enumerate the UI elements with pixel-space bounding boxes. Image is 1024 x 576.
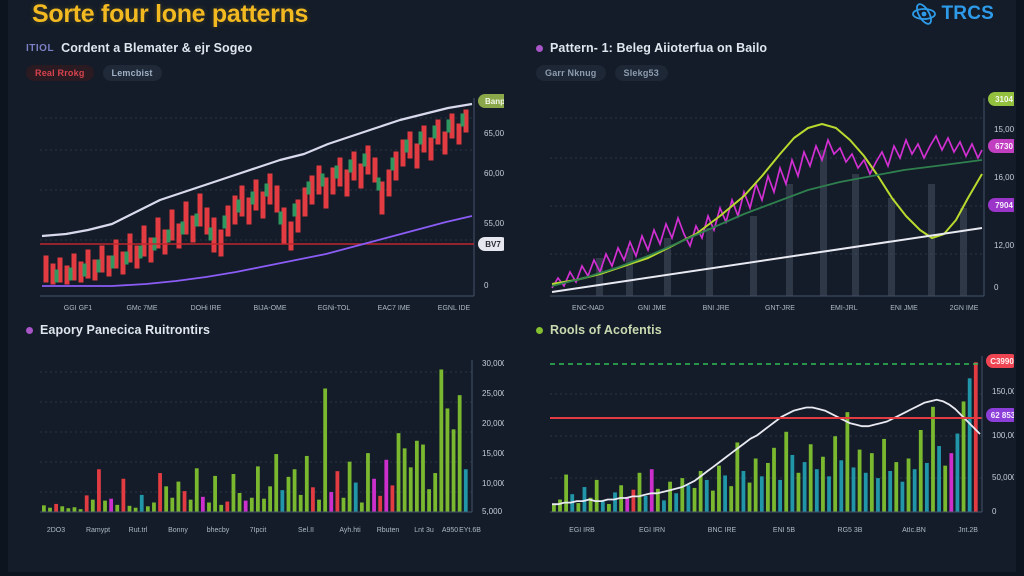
bar <box>452 429 456 512</box>
bar <box>274 454 278 512</box>
y-tick-1-3: 0 <box>484 281 489 290</box>
y-tick-2-0: 15,000 <box>994 125 1014 134</box>
bar <box>772 448 776 512</box>
brand-name: TRCS <box>941 3 994 25</box>
bar <box>882 439 886 512</box>
x-tick-labels-3: 2DO3 Ramypt Rut.trl Bonny bhecby 7Ipcit … <box>47 527 481 534</box>
bar <box>73 507 77 512</box>
x-tick-3-11: EYt.6B <box>459 527 481 534</box>
bar <box>189 500 193 512</box>
y-tick-4-2: 50,000 <box>992 473 1014 482</box>
bar <box>901 482 905 512</box>
x-tick-3-4: bhecby <box>207 527 230 534</box>
bar <box>366 453 370 512</box>
x-tick-1-1: GMc 7ME <box>126 305 157 310</box>
bar <box>201 497 205 512</box>
bar <box>170 498 174 512</box>
bar <box>797 473 801 512</box>
bar <box>311 487 315 512</box>
bar <box>974 362 978 512</box>
bar <box>293 469 297 512</box>
x-tick-1-3: BIJA-OME <box>253 305 286 310</box>
bar <box>595 480 599 512</box>
bar <box>729 486 733 512</box>
bar <box>558 500 562 512</box>
bar <box>607 504 611 512</box>
badge-2-0-label: 3104 <box>995 95 1013 104</box>
bar <box>219 505 223 512</box>
panel-3-title: Eapory Panecica Ruitrontirs <box>40 323 210 337</box>
bar <box>134 508 138 512</box>
x-tick-3-9: Lnt 3u <box>414 527 434 534</box>
bar <box>919 430 923 512</box>
bar <box>858 450 862 512</box>
bar <box>244 501 248 512</box>
panel-2-header: Pattern- 1: Beleg Aiioterfua on Bailo <box>536 40 1014 56</box>
bar <box>66 508 70 512</box>
bar <box>845 412 849 512</box>
bar <box>742 471 746 512</box>
bar <box>360 503 364 513</box>
x-tick-3-0: 2DO3 <box>47 527 65 534</box>
bar <box>409 467 413 512</box>
panel-1-pills: Real Rrokg Lemcbist <box>26 65 504 81</box>
bar <box>552 505 556 512</box>
x-tick-3-3: Bonny <box>168 527 188 534</box>
panel-candlestick: ITIOL Cordent a Blemater & ejr Sogeo Rea… <box>26 40 504 310</box>
brand-logo: TRCS <box>911 2 994 26</box>
bar <box>97 469 101 512</box>
bar <box>109 499 113 512</box>
bullet-icon <box>26 327 33 334</box>
x-tick-3-1: Ramypt <box>86 527 110 534</box>
bar <box>378 496 382 512</box>
bar <box>48 508 52 512</box>
bar <box>784 432 788 512</box>
bar <box>42 505 46 512</box>
bar <box>323 389 327 513</box>
bar <box>250 498 254 512</box>
bar <box>372 479 376 512</box>
bar <box>680 478 684 512</box>
panel-2-plot[interactable]: 15,000 16,000 12,000 0 3104 6730 7904 <box>536 88 1014 310</box>
page-title: Sorte four lone patterns <box>32 0 308 29</box>
x-tick-3-7: Ayh.hti <box>339 527 361 534</box>
x-tick-4-2: BNC IRE <box>708 527 737 534</box>
x-tick-2-3: GNT-JRE <box>765 305 795 310</box>
bar <box>183 491 187 512</box>
x-tick-2-5: ENI JME <box>890 305 918 310</box>
bar <box>439 370 443 513</box>
bar <box>564 475 568 512</box>
bar <box>876 478 880 512</box>
bar <box>384 460 388 512</box>
panel-4-plot[interactable]: 150,000 100,000 50,000 0 C3990 62 853 EG… <box>536 346 1014 560</box>
x-tick-4-5: AtIc.BN <box>902 527 926 534</box>
bar <box>85 495 89 512</box>
x-tick-labels-4: EGI IRB EGI IRN BNC IRE ENI 5B RG5 3B At… <box>569 527 978 534</box>
y-tick-3-1: 25,000 <box>482 389 504 398</box>
bar <box>864 473 868 512</box>
bar <box>668 482 672 512</box>
bar-series-3 <box>42 370 468 513</box>
bar <box>662 500 666 512</box>
bar <box>723 475 727 512</box>
x-tick-1-6: EGNL IDE <box>438 305 471 310</box>
bar <box>207 503 211 513</box>
bar <box>146 506 150 512</box>
panel-pattern: Pattern- 1: Beleg Aiioterfua on Bailo Ga… <box>536 40 1014 310</box>
bar <box>687 485 691 512</box>
bar <box>943 466 947 512</box>
bar <box>415 441 419 512</box>
x-tick-3-8: Rbuten <box>377 527 400 534</box>
x-tick-1-4: EGNi-TOL <box>318 305 351 310</box>
bar <box>348 462 352 512</box>
bar <box>803 462 807 512</box>
bar <box>631 490 635 512</box>
bar <box>907 459 911 512</box>
bar <box>711 491 715 512</box>
bar <box>256 466 260 512</box>
bar <box>760 476 764 512</box>
bar <box>931 407 935 512</box>
bar <box>329 492 333 512</box>
badge-4-0-label: C3990 <box>990 357 1014 366</box>
x-tick-1-2: DOHi IRE <box>191 305 222 310</box>
x-tick-2-2: BNI JRE <box>703 305 730 310</box>
x-tick-2-0: ENC-NAD <box>572 305 604 310</box>
bar <box>177 482 181 512</box>
bar <box>280 490 284 512</box>
bar <box>397 433 401 512</box>
y-tick-4-3: 0 <box>992 507 997 516</box>
panel-1-plot[interactable]: 65,000 60,000 55,000 0 Banp BV7 GGI GF1 … <box>26 88 504 310</box>
bar <box>152 503 156 513</box>
dashboard-root: Sorte four lone patterns TRCS ITIOL Cord… <box>0 0 1024 576</box>
panel-4-title: Rools of Acofentis <box>550 323 662 337</box>
panel-roots: Rools of Acofentis 150,000 100,000 50,0 <box>536 322 1014 560</box>
panel-3-plot[interactable]: 30,000 25,000 20,000 15,000 10,000 5,000… <box>26 346 504 560</box>
bar <box>717 466 721 512</box>
bar <box>335 471 339 512</box>
bullet-icon <box>536 327 543 334</box>
bar <box>103 501 107 512</box>
bar <box>839 460 843 512</box>
panel-2-pills: Garr Nknug Slekg53 <box>536 65 1014 81</box>
x-tick-4-1: EGI IRN <box>639 527 665 534</box>
badge-1-1-label: BV7 <box>485 240 501 249</box>
bar <box>317 500 321 512</box>
x-tick-labels-1: GGI GF1 GMc 7ME DOHi IRE BIJA-OME EGNi-T… <box>64 305 471 310</box>
badge-4-1: 62 853 <box>986 408 1014 422</box>
bar <box>54 504 58 512</box>
bar <box>925 463 929 512</box>
bar <box>576 503 580 512</box>
bar <box>158 473 162 512</box>
bullet-icon <box>536 45 543 52</box>
bar <box>140 495 144 512</box>
bar <box>164 486 168 512</box>
candle-series <box>44 110 468 284</box>
y-tick-3-0: 30,000 <box>482 359 504 368</box>
bar <box>815 469 819 512</box>
bar <box>913 469 917 512</box>
pill-real-rrokg[interactable]: Real Rrokg <box>26 65 94 81</box>
app-header: Sorte four lone patterns TRCS <box>8 0 1016 36</box>
bar <box>342 498 346 512</box>
bar <box>674 493 678 512</box>
bar <box>833 436 837 512</box>
badge-2-1-label: 6730 <box>995 142 1013 151</box>
badge-4-1-label: 62 853 <box>991 411 1014 420</box>
bar <box>446 408 450 512</box>
bar <box>888 471 892 512</box>
bar <box>625 497 629 512</box>
badge-1-0-label: Banp <box>485 97 504 106</box>
x-tick-3-2: Rut.trl <box>129 527 148 534</box>
badge-2-2: 7904 <box>988 198 1014 212</box>
bar <box>937 446 941 512</box>
x-tick-2-6: 2GN IME <box>950 305 979 310</box>
bar <box>693 488 697 512</box>
panel-1-prefix: ITIOL <box>26 43 54 54</box>
bar <box>464 469 468 512</box>
y-tick-labels-1: 65,000 60,000 55,000 0 <box>484 129 504 290</box>
upper-band-line <box>42 104 472 236</box>
badge-1-1: BV7 <box>478 237 504 251</box>
badge-4-0: C3990 <box>986 354 1014 368</box>
bar <box>956 434 960 512</box>
price-line-magenta <box>552 136 982 288</box>
bar <box>262 499 266 512</box>
bar <box>748 483 752 512</box>
x-tick-4-3: ENI 5B <box>773 527 796 534</box>
bar <box>195 468 199 512</box>
y-tick-1-1: 60,000 <box>484 169 504 178</box>
x-tick-4-4: RG5 3B <box>838 527 863 534</box>
bar <box>403 448 407 512</box>
bar <box>287 477 291 512</box>
bar <box>225 502 229 512</box>
pill-lemcbist[interactable]: Lemcbist <box>103 65 162 81</box>
badge-2-0: 3104 <box>988 92 1014 106</box>
x-tick-4-6: Jnt.2B <box>958 527 978 534</box>
bar <box>91 500 95 512</box>
bar <box>305 456 309 512</box>
bar <box>238 493 242 512</box>
bar <box>644 496 648 512</box>
x-tick-2-4: EMI-JRL <box>830 305 857 310</box>
y-tick-3-4: 10,000 <box>482 479 504 488</box>
bar <box>128 506 132 512</box>
bar <box>778 480 782 512</box>
bar <box>232 474 236 512</box>
bar <box>213 476 217 512</box>
bar <box>650 469 654 512</box>
gridlines-2 <box>550 118 984 254</box>
trend-line-white <box>552 228 982 292</box>
x-tick-2-1: GNI JME <box>638 305 667 310</box>
bar <box>809 444 813 512</box>
bar <box>268 486 272 512</box>
x-tick-3-6: Sel.II <box>298 527 314 534</box>
x-tick-1-5: EAC7 IME <box>378 305 411 310</box>
badge-2-1: 6730 <box>988 139 1014 153</box>
bar <box>391 485 395 512</box>
pill-slekg53[interactable]: Slekg53 <box>615 65 668 81</box>
x-tick-1-0: GGI GF1 <box>64 305 93 310</box>
bar <box>894 462 898 512</box>
panel-1-header: ITIOL Cordent a Blemater & ejr Sogeo <box>26 40 504 56</box>
y-tick-1-0: 65,000 <box>484 129 504 138</box>
atom-icon <box>911 2 937 26</box>
bar <box>638 473 642 512</box>
bar <box>821 457 825 512</box>
badge-1-0: Banp <box>478 94 504 108</box>
pill-garr-nknug[interactable]: Garr Nknug <box>536 65 606 81</box>
bar <box>852 467 856 512</box>
bar <box>458 395 462 512</box>
y-tick-3-5: 5,000 <box>482 507 503 516</box>
bar <box>121 479 125 512</box>
y-tick-2-3: 0 <box>994 283 999 292</box>
panel-4-header: Rools of Acofentis <box>536 322 1014 338</box>
panel-3-header: Eapory Panecica Ruitrontirs <box>26 322 504 338</box>
panel-2-title: Pattern- 1: Beleg Aiioterfua on Bailo <box>550 41 767 55</box>
bar <box>766 463 770 512</box>
bar <box>870 453 874 512</box>
bar <box>968 378 972 512</box>
bar-series-4 <box>552 362 978 512</box>
y-tick-3-3: 15,000 <box>482 449 504 458</box>
bar <box>354 483 358 512</box>
bar <box>115 505 119 512</box>
x-tick-labels-2: ENC-NAD GNI JME BNI JRE GNT-JRE EMI-JRL … <box>572 305 979 310</box>
y-tick-1-2: 55,000 <box>484 219 504 228</box>
bar <box>754 459 758 512</box>
bar <box>790 455 794 512</box>
bar <box>421 445 425 512</box>
panel-volume-bars: Eapory Panecica Ruitrontirs 30,000 25,00… <box>26 322 504 560</box>
y-tick-4-0: 150,000 <box>992 387 1014 396</box>
x-tick-3-10: A950 <box>442 527 458 534</box>
y-tick-4-1: 100,000 <box>992 431 1014 440</box>
panel-1-title: Cordent a Blemater & ejr Sogeo <box>61 41 252 55</box>
bar <box>601 501 605 512</box>
bar <box>949 453 953 512</box>
bar <box>427 489 431 512</box>
bar <box>60 506 64 512</box>
bar <box>827 476 831 512</box>
x-tick-4-0: EGI IRB <box>569 527 595 534</box>
bar <box>433 473 437 512</box>
badge-2-2-label: 7904 <box>995 201 1013 210</box>
bar <box>299 495 303 512</box>
bar <box>705 480 709 512</box>
y-tick-2-2: 12,000 <box>994 241 1014 250</box>
y-tick-3-2: 20,000 <box>482 419 504 428</box>
y-tick-labels-4: 150,000 100,000 50,000 0 <box>992 387 1014 516</box>
y-tick-labels-3: 30,000 25,000 20,000 15,000 10,000 5,000 <box>482 359 504 516</box>
x-tick-3-5: 7Ipcit <box>250 527 267 534</box>
bar <box>613 492 617 512</box>
bar <box>735 442 739 512</box>
y-tick-2-1: 16,000 <box>994 173 1014 182</box>
